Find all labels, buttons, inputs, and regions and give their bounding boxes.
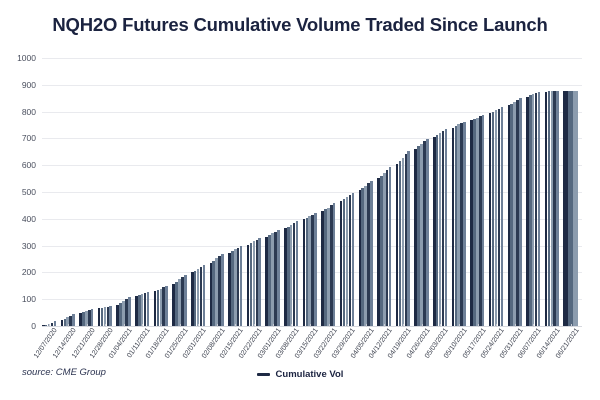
bar xyxy=(184,275,187,326)
x-axis-tick xyxy=(291,324,292,327)
x-axis-tick xyxy=(515,324,516,327)
y-axis-tick-label: 100 xyxy=(22,294,36,304)
bar xyxy=(128,297,131,326)
x-axis-tick xyxy=(384,324,385,327)
x-axis-tick xyxy=(403,324,404,327)
x-axis-tick xyxy=(478,324,479,327)
bar xyxy=(258,238,261,326)
bar xyxy=(370,181,373,326)
chart-title: NQH2O Futures Cumulative Volume Traded S… xyxy=(0,14,600,36)
x-axis-tick xyxy=(310,324,311,327)
chart-legend: Cumulative Vol xyxy=(0,369,600,380)
x-axis-tick xyxy=(235,324,236,327)
x-axis-tick xyxy=(105,324,106,327)
bar xyxy=(277,230,280,326)
x-axis-tick xyxy=(161,324,162,327)
x-axis-tick xyxy=(180,324,181,327)
bar xyxy=(221,254,224,326)
bar xyxy=(352,193,355,326)
legend-label-cumulative-vol: Cumulative Vol xyxy=(276,369,344,380)
bar xyxy=(165,286,168,326)
bar xyxy=(314,213,317,326)
bar xyxy=(568,91,572,326)
y-axis-tick-label: 500 xyxy=(22,187,36,197)
bar xyxy=(445,129,448,326)
bar xyxy=(91,309,94,326)
bar xyxy=(147,292,150,326)
bar xyxy=(519,98,522,326)
y-axis-tick-label: 900 xyxy=(22,80,36,90)
bar xyxy=(563,91,567,326)
x-axis-tick xyxy=(124,324,125,327)
bar xyxy=(501,107,504,326)
x-axis-tick xyxy=(496,324,497,327)
x-axis-tick xyxy=(273,324,274,327)
x-axis-tick xyxy=(198,324,199,327)
bar xyxy=(538,92,541,326)
x-axis-tick xyxy=(459,324,460,327)
chart-card: NQH2O Futures Cumulative Volume Traded S… xyxy=(0,0,600,400)
y-axis-tick-label: 200 xyxy=(22,267,36,277)
plot-area xyxy=(42,58,582,326)
x-axis-tick xyxy=(49,324,50,327)
y-axis-tick-label: 1000 xyxy=(17,53,36,63)
y-axis-labels: 01002003004005006007008009001000 xyxy=(0,58,36,326)
x-axis-tick xyxy=(533,324,534,327)
bar xyxy=(389,167,392,326)
x-axis-tick xyxy=(142,324,143,327)
x-axis-tick xyxy=(254,324,255,327)
legend-swatch-cumulative-vol xyxy=(257,373,270,376)
bar xyxy=(556,91,559,326)
x-axis-tick xyxy=(552,324,553,327)
bar xyxy=(72,314,75,326)
x-axis-labels: 12/07/202012/14/202012/21/202012/28/2020… xyxy=(42,327,582,373)
bar xyxy=(109,306,112,326)
bar xyxy=(463,122,466,326)
y-axis-tick-label: 300 xyxy=(22,241,36,251)
bar xyxy=(573,91,577,326)
bar xyxy=(482,115,485,326)
y-axis-tick-label: 800 xyxy=(22,107,36,117)
bar xyxy=(407,151,410,326)
x-axis-tick xyxy=(68,324,69,327)
x-axis-tick xyxy=(329,324,330,327)
y-axis-tick-label: 600 xyxy=(22,160,36,170)
bar xyxy=(203,265,206,326)
bar xyxy=(426,139,429,326)
x-axis-tick xyxy=(217,324,218,327)
x-axis-tick xyxy=(366,324,367,327)
bar xyxy=(240,246,243,326)
y-axis-tick-label: 0 xyxy=(31,321,36,331)
bar xyxy=(54,321,57,326)
x-axis-tick xyxy=(87,324,88,327)
bar xyxy=(296,221,299,326)
y-axis-tick-label: 400 xyxy=(22,214,36,224)
bar xyxy=(333,203,336,326)
x-axis-tick xyxy=(347,324,348,327)
x-axis-tick xyxy=(422,324,423,327)
bar-series-cumulative-vol xyxy=(42,58,582,326)
x-axis-tick xyxy=(440,324,441,327)
x-axis-tick xyxy=(571,324,572,327)
y-axis-tick-label: 700 xyxy=(22,133,36,143)
